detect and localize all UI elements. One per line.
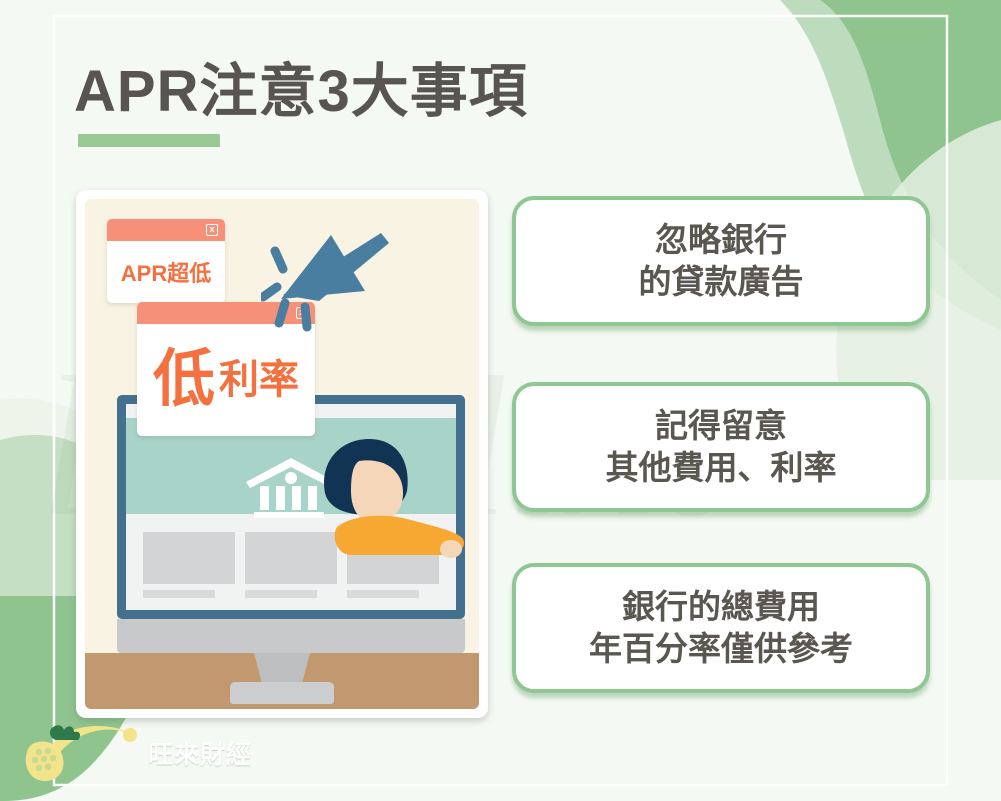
tip-card[interactable]: 銀行的總費用 年百分率僅供參考 [512, 563, 930, 693]
arrow-cursor-icon [261, 229, 391, 349]
placeholder-caption [245, 590, 317, 598]
placeholder-caption [347, 590, 419, 598]
page-title: APR注意3大事項 [74, 44, 528, 128]
pineapple-logo-icon [22, 722, 144, 784]
tip-line-1: 銀行的總費用 [622, 586, 820, 628]
title-underline [78, 134, 220, 147]
person-illustration [307, 431, 467, 561]
placeholder-caption [143, 590, 215, 598]
illustration-panel: x APR超低 x 低 利率 [76, 190, 488, 718]
popup-ad-text-small: 利率 [219, 360, 299, 400]
tip-line-1: 記得留意 [655, 405, 787, 447]
monitor-stand-neck [254, 653, 310, 683]
popup-ad-text-large: 低 [153, 349, 215, 411]
popup-ad-apr[interactable]: x APR超低 [107, 219, 225, 303]
infographic-canvas: luzonline APR注意3大事項 [0, 0, 1001, 801]
placeholder-thumbnail [143, 532, 235, 584]
tip-line-2: 的貸款廣告 [639, 261, 804, 303]
brand-name: 旺來財經 [148, 735, 252, 771]
close-icon[interactable]: x [206, 224, 218, 236]
monitor-chin [117, 619, 465, 653]
content-placeholder [143, 532, 235, 600]
tip-line-2: 其他費用、利率 [606, 447, 837, 489]
tip-card[interactable]: 忽略銀行 的貸款廣告 [512, 196, 930, 326]
popup-ad-text: APR超低 [107, 241, 225, 303]
brand-logo: 旺來財經 [22, 722, 252, 784]
popup-title-bar: x [107, 219, 225, 241]
tip-line-2: 年百分率僅供參考 [589, 628, 853, 670]
tip-card[interactable]: 記得留意 其他費用、利率 [512, 382, 930, 512]
tip-line-1: 忽略銀行 [655, 219, 787, 261]
illustration-scene: x APR超低 x 低 利率 [85, 199, 479, 709]
monitor-stand-foot [230, 682, 334, 704]
